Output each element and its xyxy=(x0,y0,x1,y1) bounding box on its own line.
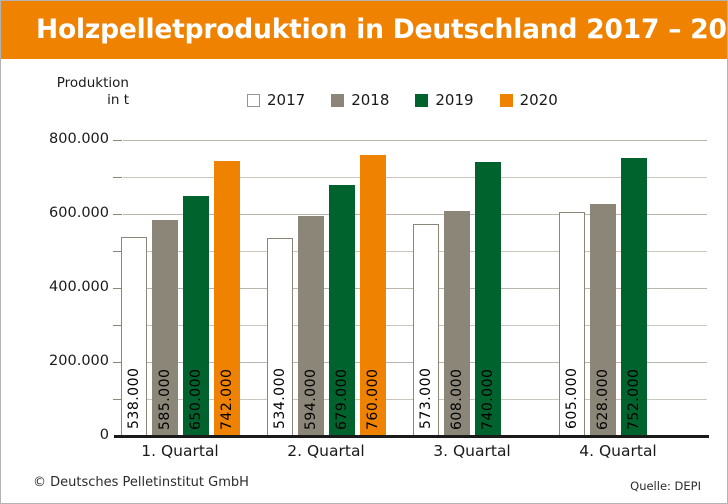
bar-value-label: 628.000 xyxy=(595,369,611,430)
bar-2017-q4: 605.000 xyxy=(559,212,585,436)
bar-2020-q2: 760.000 xyxy=(360,155,386,436)
bar-value-label: 605.000 xyxy=(564,368,580,429)
x-axis-label-q2: 2. Quartal xyxy=(256,442,396,460)
gridline-minor xyxy=(123,177,707,178)
legend-label-2019: 2019 xyxy=(435,91,473,109)
chart-legend: 2017201820192020 xyxy=(247,90,558,110)
legend-label-2018: 2018 xyxy=(351,91,389,109)
bar-2018-q3: 608.000 xyxy=(444,211,470,436)
bar-2019-q2: 679.000 xyxy=(329,185,355,436)
legend-swatch-icon-2020 xyxy=(500,94,513,107)
legend-swatch-icon-2019 xyxy=(415,94,428,107)
gridline-major xyxy=(123,214,707,215)
bar-2019-q1: 650.000 xyxy=(183,196,209,437)
bar-2018-q1: 585.000 xyxy=(152,220,178,436)
bar-2017-q1: 538.000 xyxy=(121,237,147,436)
y-axis-tick-mark xyxy=(113,140,122,141)
bar-value-label: 573.000 xyxy=(418,368,434,429)
y-axis-tick-mark xyxy=(113,288,122,289)
bar-2019-q3: 740.000 xyxy=(475,162,501,436)
legend-item-2019: 2019 xyxy=(415,91,473,109)
legend-swatch-icon-2017 xyxy=(247,94,260,107)
bar-value-label: 585.000 xyxy=(157,369,173,430)
x-axis-label-q3: 3. Quartal xyxy=(402,442,542,460)
y-axis-caption: Produktion in t xyxy=(33,75,129,109)
bar-value-label: 740.000 xyxy=(480,369,496,430)
bar-value-label: 650.000 xyxy=(188,369,204,430)
legend-item-2018: 2018 xyxy=(331,91,389,109)
bar-2018-q4: 628.000 xyxy=(590,204,616,436)
bar-2019-q4: 752.000 xyxy=(621,158,647,436)
footer-copyright: © Deutsches Pelletinstitut GmbH xyxy=(33,475,249,490)
y-axis-caption-line1: Produktion xyxy=(57,75,129,91)
bar-value-label: 742.000 xyxy=(219,369,235,430)
header-bar: Holzpelletproduktion in Deutschland 2017… xyxy=(1,1,728,59)
y-axis-tick-label: 400.000 xyxy=(19,279,109,295)
chart-page: Holzpelletproduktion in Deutschland 2017… xyxy=(0,0,728,504)
legend-label-2017: 2017 xyxy=(267,91,305,109)
bar-value-label: 608.000 xyxy=(449,369,465,430)
y-axis-tick-mark-minor xyxy=(113,177,122,178)
legend-item-2020: 2020 xyxy=(500,91,558,109)
bar-value-label: 538.000 xyxy=(126,368,142,429)
legend-item-2017: 2017 xyxy=(247,91,305,109)
y-axis-tick-mark-minor xyxy=(113,325,122,326)
bar-value-label: 760.000 xyxy=(365,369,381,430)
x-axis-label-q1: 1. Quartal xyxy=(110,442,250,460)
bar-2020-q1: 742.000 xyxy=(214,161,240,436)
x-axis-baseline xyxy=(114,435,709,438)
y-axis-caption-line2: in t xyxy=(33,92,129,109)
gridline-major xyxy=(123,140,707,141)
bar-value-label: 594.000 xyxy=(303,369,319,430)
y-axis-tick-label: 0 xyxy=(19,427,109,443)
x-axis-label-q4: 4. Quartal xyxy=(548,442,688,460)
y-axis-tick-mark-minor xyxy=(113,399,122,400)
bar-2018-q2: 594.000 xyxy=(298,216,324,436)
bar-value-label: 534.000 xyxy=(272,368,288,429)
bar-2017-q2: 534.000 xyxy=(267,238,293,436)
plot-area: 538.000585.000650.000742.000534.000594.0… xyxy=(123,140,707,436)
y-axis-tick-label: 200.000 xyxy=(19,353,109,369)
y-axis-tick-mark-minor xyxy=(113,251,122,252)
page-title: Holzpelletproduktion in Deutschland 2017… xyxy=(36,10,696,50)
legend-swatch-icon-2018 xyxy=(331,94,344,107)
footer-source: Quelle: DEPI xyxy=(630,479,701,493)
y-axis-tick-mark xyxy=(113,214,122,215)
y-axis-tick-mark xyxy=(113,362,122,363)
bar-value-label: 679.000 xyxy=(334,369,350,430)
legend-label-2020: 2020 xyxy=(520,91,558,109)
y-axis-tick-label: 600.000 xyxy=(19,205,109,221)
bar-2017-q3: 573.000 xyxy=(413,224,439,436)
bar-value-label: 752.000 xyxy=(626,369,642,430)
y-axis-tick-label: 800.000 xyxy=(19,131,109,147)
